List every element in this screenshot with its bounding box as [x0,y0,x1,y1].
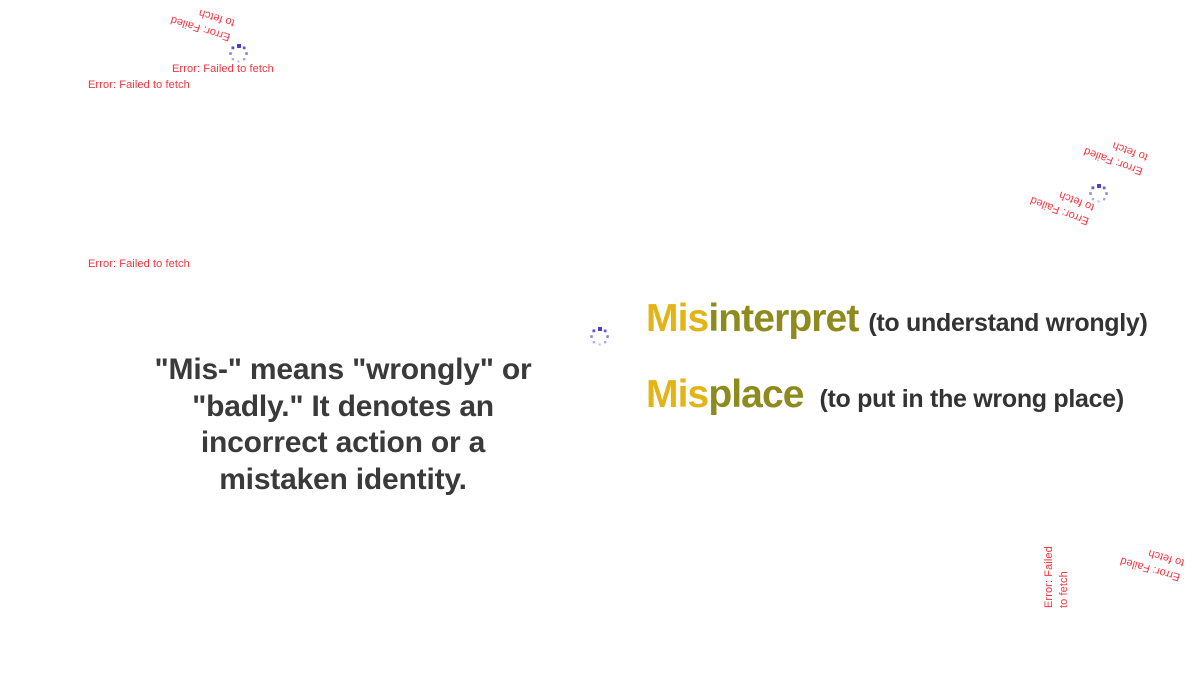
example-item: Misinterpret (to understand wrongly) [646,296,1166,342]
word-stem: interpret [708,297,858,340]
error-toast: Error: Failed to fetch [1042,546,1072,608]
loading-spinner-icon [589,326,611,348]
prefix-definition-text: "Mis-" means "wrongly" or "badly." It de… [140,352,546,498]
error-toast: Error: Failed to fetch [88,257,190,272]
example-item: Misplace (to put in the wrong place) [646,372,1166,418]
word-prefix: Mis [646,373,708,416]
error-toast: Error: Failed to fetch [1082,129,1150,178]
loading-spinner-icon [228,43,250,65]
error-toast: Error: Failed to fetch [172,62,274,77]
word-gloss: (to put in the wrong place) [820,385,1124,413]
word-gloss: (to understand wrongly) [868,309,1147,337]
error-toast: Error: Failed to fetch [1028,178,1097,228]
examples-list: Misinterpret (to understand wrongly) Mis… [646,296,1166,448]
loading-spinner-icon [1088,183,1110,205]
error-toast: Error: Failed to fetch [88,78,190,93]
error-toast: Error: Failed to fetch [169,0,237,44]
word-prefix: Mis [646,297,708,340]
error-toast: Error: Failed to fetch [1118,538,1186,584]
word-stem: place [708,373,803,416]
